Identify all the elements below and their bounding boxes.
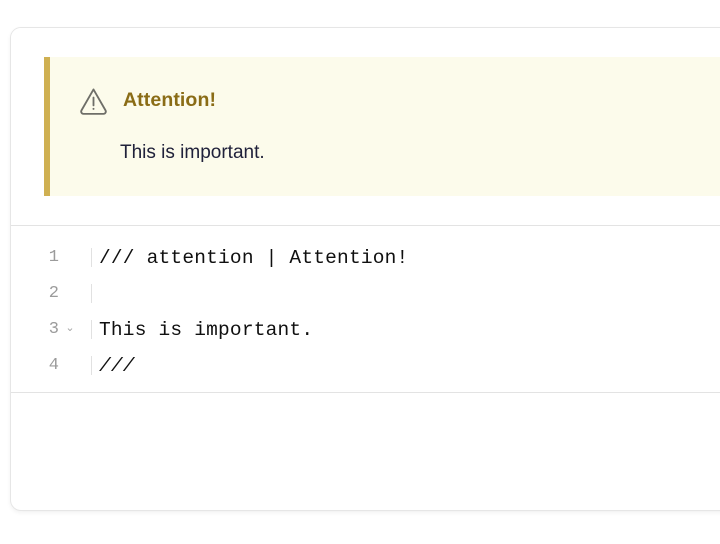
rendered-preview-pane: Attention! This is important. (11, 28, 720, 225)
line-number-gutter[interactable]: 2 (11, 284, 81, 303)
line-number-gutter[interactable]: 4 (11, 356, 81, 375)
line-number: 2 (49, 284, 59, 303)
line-number: 3 (49, 320, 59, 339)
callout-body-text: This is important. (50, 140, 720, 166)
editor-bottom-rule (11, 392, 720, 393)
gutter-rule (91, 320, 92, 339)
gutter-rule (91, 356, 92, 375)
code-line-row[interactable]: 3 ⌄ This is important. (11, 312, 720, 348)
preview-card: Attention! This is important. 1 /// atte… (10, 27, 720, 511)
code-line-text[interactable]: /// (81, 355, 135, 377)
gutter-rule (91, 284, 92, 303)
code-editor-pane[interactable]: 1 /// attention | Attention! 2 3 ⌄ (11, 226, 720, 405)
chevron-down-icon[interactable]: ⌄ (63, 324, 77, 335)
line-number: 1 (49, 248, 59, 267)
callout-header: Attention! (50, 85, 720, 116)
line-number-gutter[interactable]: 3 ⌄ (11, 320, 81, 339)
code-line-row[interactable]: 4 /// (11, 348, 720, 384)
line-number: 4 (49, 356, 59, 375)
code-line-row[interactable]: 1 /// attention | Attention! (11, 240, 720, 276)
code-line-row[interactable]: 2 (11, 276, 720, 312)
card-footer (11, 405, 720, 457)
line-number-gutter[interactable]: 1 (11, 248, 81, 267)
warning-triangle-icon (78, 85, 109, 116)
gutter-rule (91, 248, 92, 267)
callout-title: Attention! (123, 91, 216, 111)
code-line-text[interactable]: /// attention | Attention! (81, 247, 408, 269)
attention-callout: Attention! This is important. (44, 57, 720, 196)
code-lines[interactable]: 1 /// attention | Attention! 2 3 ⌄ (11, 240, 720, 384)
code-line-text[interactable]: This is important. (81, 319, 313, 341)
